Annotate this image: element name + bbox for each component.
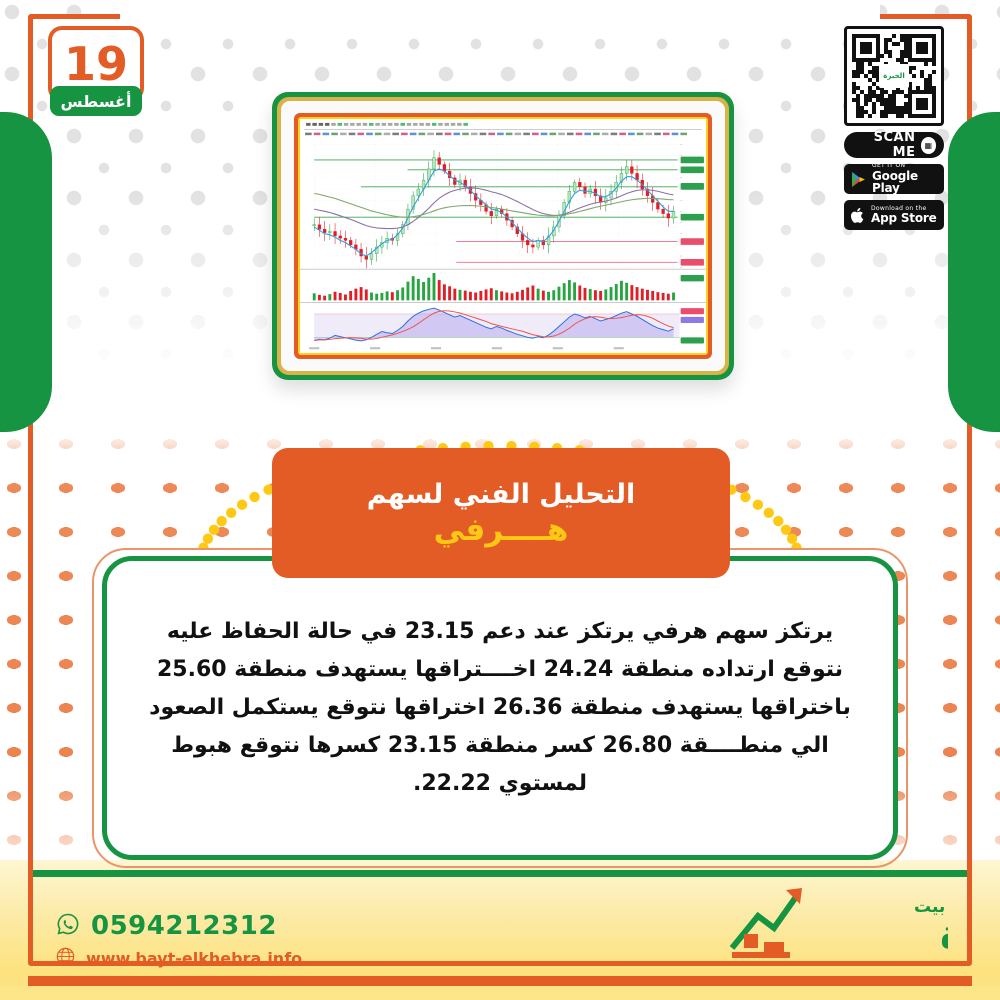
chart-svg: [300, 119, 706, 353]
page-title: التحليل الفني لسهم: [367, 479, 636, 510]
google-play-label: Google Play: [872, 170, 937, 195]
date-badge: 19 أغسطس: [48, 26, 144, 102]
contact-info: 0594212312 www.bayt-elkhebra.info: [56, 911, 476, 970]
analysis-content-box: يرتكز سهم هرفي يرتكز عند دعم 23.15 في حا…: [102, 556, 898, 860]
google-play-icon: [851, 171, 866, 188]
scan-me-label: SCAN ME: [852, 130, 916, 160]
chart-white-mat: [281, 101, 725, 371]
date-day: 19: [64, 41, 128, 87]
date-month-pill: أغسطس: [50, 86, 142, 116]
stock-chart-screenshot: [300, 119, 706, 353]
chart-card: [272, 92, 734, 380]
whatsapp-icon: [56, 912, 80, 940]
decorative-green-tab-right: [948, 112, 1000, 432]
growth-arrow-house-icon: [732, 888, 802, 958]
website-row[interactable]: www.bayt-elkhebra.info: [56, 947, 476, 970]
qr-block: الخبرة ▦ SCAN ME GET IT ON Google Play: [844, 26, 944, 230]
footer-orange-bar: [28, 976, 972, 986]
brand-logo-svg: بيت الخبرة: [718, 882, 948, 966]
brand-logo-text-main: الخبرة: [940, 912, 948, 958]
brand-logo: بيت الخبرة: [718, 882, 948, 966]
chart-yellow-border: [298, 117, 708, 355]
qr-code[interactable]: الخبرة: [844, 26, 944, 126]
globe-icon: [56, 947, 75, 970]
website-url: www.bayt-elkhebra.info: [86, 949, 302, 968]
footer-yellow-strip: [0, 986, 1000, 1000]
chart-orange-border: [294, 113, 712, 359]
apple-icon: [851, 207, 865, 224]
app-store-badge[interactable]: Download on the App Store: [844, 200, 944, 230]
poster-canvas: 19 أغسطس الخبرة ▦ SCAN ME: [0, 0, 1000, 1000]
chart-gold-border: [277, 97, 729, 375]
google-play-badge[interactable]: GET IT ON Google Play: [844, 164, 944, 194]
analysis-text: يرتكز سهم هرفي يرتكز عند دعم 23.15 في حا…: [133, 613, 867, 802]
whatsapp-row[interactable]: 0594212312: [56, 911, 476, 941]
qr-icon: ▦: [921, 137, 937, 154]
app-store-label: App Store: [871, 212, 937, 225]
scan-me-badge[interactable]: ▦ SCAN ME: [844, 132, 944, 158]
frame-top-gap: [120, 0, 880, 30]
qr-center-logo: الخبرة: [879, 64, 909, 88]
page-subtitle-stock-name: هــــرفي: [434, 512, 569, 548]
whatsapp-number: 0594212312: [91, 911, 277, 941]
title-banner: التحليل الفني لسهم هــــرفي: [272, 448, 730, 578]
decorative-green-tab-left: [0, 112, 52, 432]
footer-green-divider: [33, 870, 967, 877]
date-month: أغسطس: [61, 92, 132, 111]
